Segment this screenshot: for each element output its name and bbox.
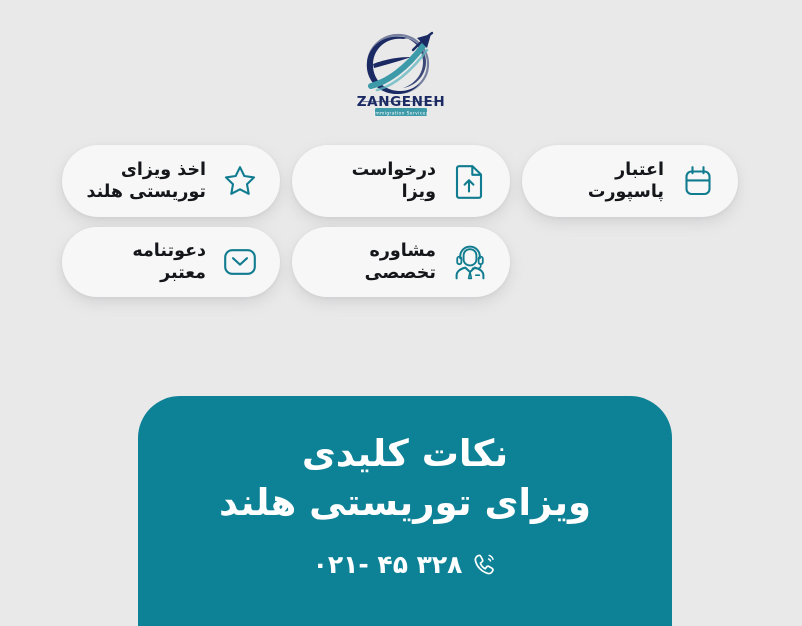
- banner-title: نکات کلیدی ویزای توریستی هلند: [138, 430, 672, 528]
- contact-phone[interactable]: ۰۲۱- ۴۵ ۳۲۸: [138, 550, 672, 579]
- support-agent-icon: [450, 242, 490, 282]
- feature-card-visa[interactable]: اخذ ویزای توریستی هلند: [62, 145, 280, 217]
- feature-card-label: مشاوره تخصصی: [314, 240, 436, 285]
- feature-card-label: اخذ ویزای توریستی هلند: [87, 159, 206, 204]
- envelope-icon: [220, 242, 260, 282]
- file-upload-icon: [450, 161, 490, 201]
- feature-card-request[interactable]: درخواست ویزا: [292, 145, 510, 217]
- feature-card-label: دعوتنامه معتبر: [84, 240, 206, 285]
- feature-pill-group: اخذ ویزای توریستی هلند درخواست ویزا اعتب…: [0, 143, 802, 303]
- feature-card-invitation[interactable]: دعوتنامه معتبر: [62, 227, 280, 297]
- feature-card-label: اعتبار پاسپورت: [544, 159, 664, 204]
- phone-call-icon: [472, 552, 497, 577]
- feature-card-consultation[interactable]: مشاوره تخصصی: [292, 227, 510, 297]
- star-icon: [220, 161, 260, 201]
- key-points-banner: نکات کلیدی ویزای توریستی هلند ۰۲۱- ۴۵ ۳۲…: [138, 396, 672, 626]
- feature-card-passport[interactable]: اعتبار پاسپورت: [522, 145, 738, 217]
- brand-logo: ZANGENEH Immigration Services: [0, 22, 802, 117]
- calendar-icon: [678, 161, 718, 201]
- phone-number: ۰۲۱- ۴۵ ۳۲۸: [313, 550, 463, 579]
- feature-card-label: درخواست ویزا: [314, 159, 436, 204]
- logo-graphic: ZANGENEH Immigration Services: [353, 24, 449, 116]
- logo-tagline: Immigration Services: [374, 110, 429, 116]
